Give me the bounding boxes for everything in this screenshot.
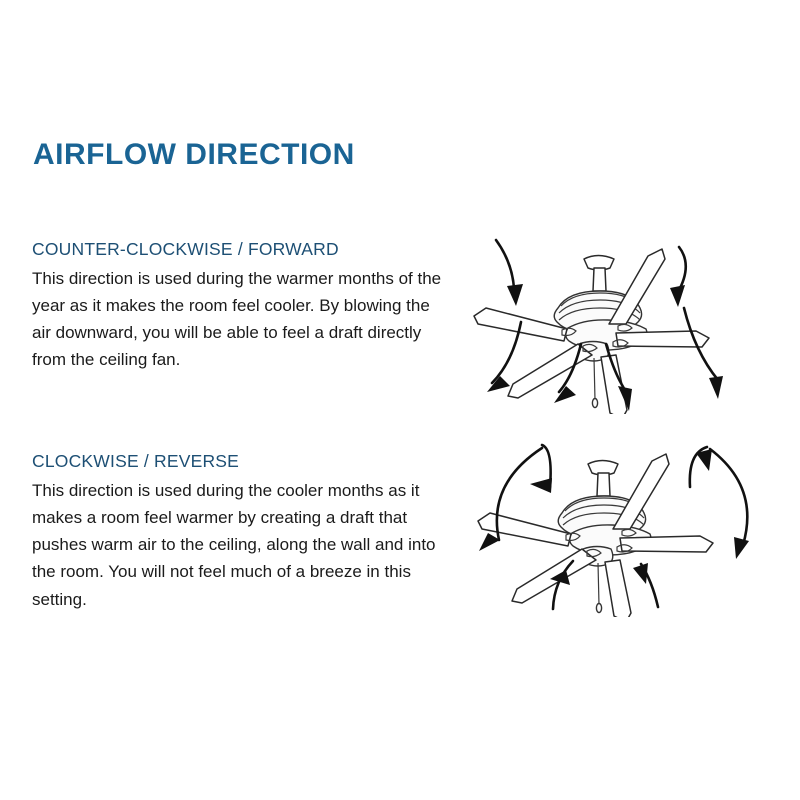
fan-pull-chain-icon	[594, 358, 595, 400]
fan-downrod-icon	[597, 473, 610, 496]
section-counter-clockwise-forward: COUNTER-CLOCKWISE / FORWARD This directi…	[32, 238, 452, 374]
ceiling-fan-forward-airflow-diagram	[466, 236, 766, 414]
airflow-arrow-up-right-outflow-top	[690, 447, 712, 487]
airflow-arrow-up-center-right-inflow	[633, 563, 658, 607]
airflow-arrow-down-right-inflow	[670, 247, 686, 307]
fan-pull-chain-tip-icon	[596, 604, 601, 613]
section-body-forward: This direction is used during the warmer…	[32, 265, 447, 374]
airflow-direction-infographic: AIRFLOW DIRECTION COUNTER-CLOCKWISE / FO…	[0, 0, 800, 800]
airflow-arrow-down-right-wall	[710, 449, 749, 559]
ceiling-fan-reverse-airflow-diagram	[462, 432, 772, 617]
page-title: AIRFLOW DIRECTION	[33, 138, 355, 171]
ceiling-fan-drawing-reverse	[478, 454, 713, 617]
fan-pull-chain-tip-icon	[592, 399, 597, 408]
airflow-arrow-down-left-inflow	[496, 240, 523, 306]
airflow-arrow-down-right-outflow	[684, 308, 723, 399]
fan-downrod-icon	[593, 268, 606, 291]
section-body-reverse: This direction is used during the cooler…	[32, 477, 447, 613]
ceiling-fan-drawing-forward	[474, 249, 709, 414]
section-heading-reverse: CLOCKWISE / REVERSE	[32, 450, 452, 473]
fan-pull-chain-icon	[598, 563, 599, 605]
airflow-arrow-up-left-outflow-top	[530, 445, 552, 493]
section-clockwise-reverse: CLOCKWISE / REVERSE This direction is us…	[32, 450, 452, 613]
fan-blade	[620, 536, 713, 552]
section-heading-forward: COUNTER-CLOCKWISE / FORWARD	[32, 238, 452, 261]
fan-blade	[605, 560, 631, 617]
